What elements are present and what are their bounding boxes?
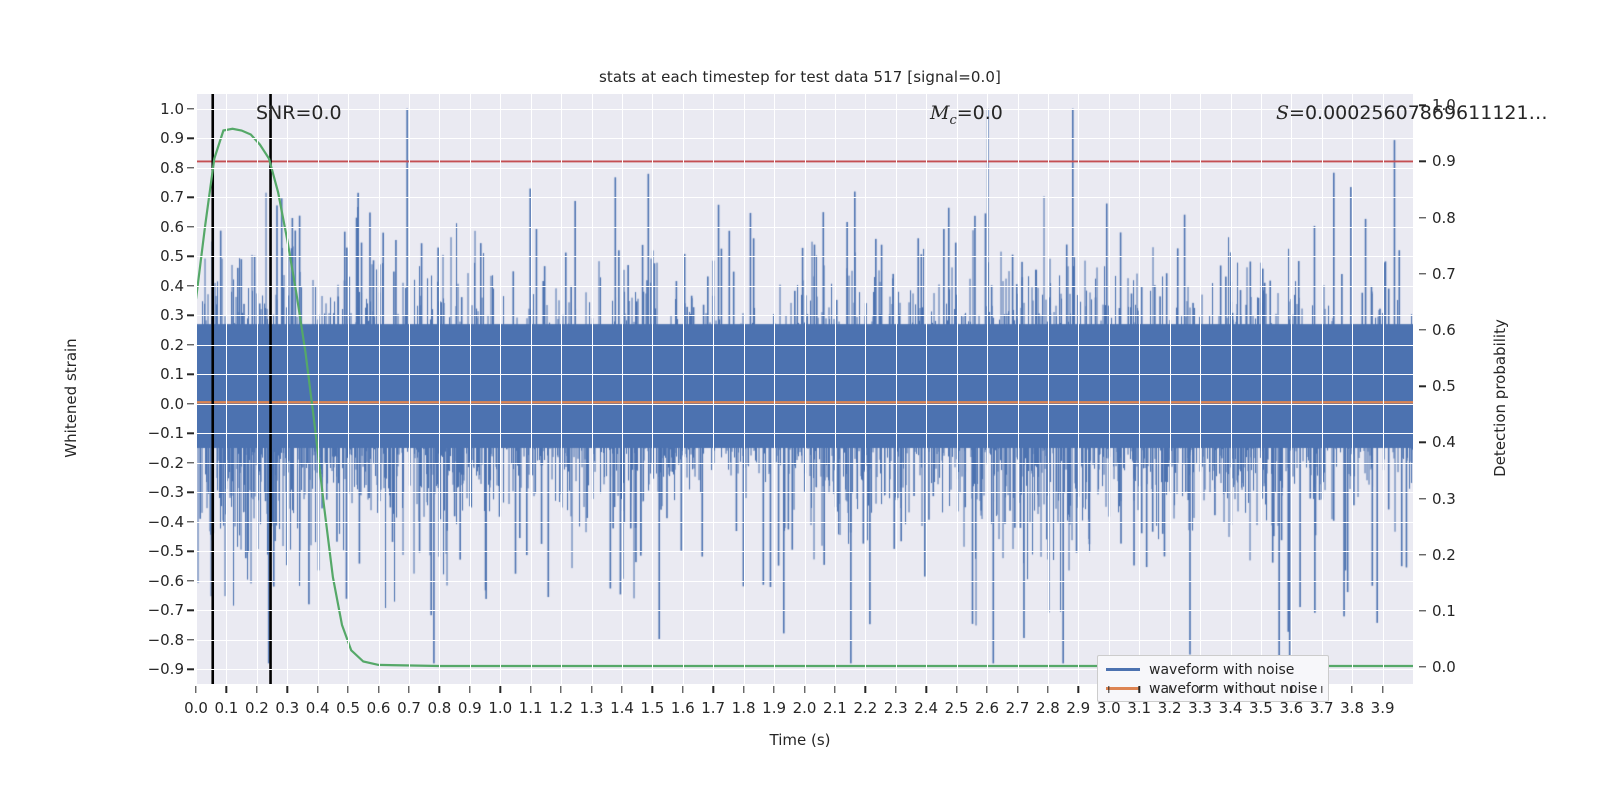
x-tick-mark <box>1199 686 1200 693</box>
annotation-snr: SNR=0.0 <box>256 102 342 124</box>
gridline-vertical <box>1383 94 1384 684</box>
gridline-vertical <box>1139 94 1140 684</box>
x-tick-mark <box>591 686 592 693</box>
y-axis-right-label: Detection probability <box>1491 268 1509 528</box>
x-tick-mark <box>469 686 470 693</box>
gridline-vertical <box>1352 94 1353 684</box>
y-tick-left-label: −0.6 <box>136 572 184 590</box>
gridline-vertical <box>683 94 684 684</box>
gridline-vertical <box>713 94 714 684</box>
gridline-vertical <box>987 94 988 684</box>
y-tick-right-label: 0.8 <box>1432 209 1482 227</box>
x-tick-mark <box>621 686 622 693</box>
gridline-vertical <box>805 94 806 684</box>
x-tick-mark <box>865 686 866 693</box>
gridline-vertical <box>957 94 958 684</box>
gridline-vertical <box>379 94 380 684</box>
x-tick-label: 3.9 <box>1361 699 1405 717</box>
gridline-vertical <box>652 94 653 684</box>
gridline-vertical <box>1200 94 1201 684</box>
y-tick-left-mark <box>187 492 194 493</box>
y-tick-right-mark <box>1419 554 1426 555</box>
x-tick-mark <box>560 686 561 693</box>
y-tick-right-mark <box>1419 385 1426 386</box>
x-axis-label: Time (s) <box>0 731 1600 749</box>
gridline-vertical <box>531 94 532 684</box>
y-tick-right-mark <box>1419 442 1426 443</box>
x-tick-mark <box>500 686 501 693</box>
x-tick-mark <box>682 686 683 693</box>
x-tick-mark <box>1108 686 1109 693</box>
x-tick-mark <box>804 686 805 693</box>
legend-item-label: waveform with noise <box>1149 662 1294 678</box>
x-tick-mark <box>530 686 531 693</box>
gridline-vertical <box>1048 94 1049 684</box>
y-tick-left-mark <box>187 138 194 139</box>
y-tick-right-label: 0.7 <box>1432 265 1482 283</box>
gridline-vertical <box>318 94 319 684</box>
x-tick-mark <box>956 686 957 693</box>
annotation-mc-value: =0.0 <box>957 102 1003 124</box>
gridline-vertical <box>1170 94 1171 684</box>
x-tick-mark <box>1169 686 1170 693</box>
y-tick-left-mark <box>187 344 194 345</box>
y-tick-right-mark <box>1419 217 1426 218</box>
y-tick-left-label: −0.1 <box>136 424 184 442</box>
annotation-mc-symbol: M <box>930 102 949 124</box>
y-tick-left-label: 0.1 <box>136 365 184 383</box>
y-tick-right-mark <box>1419 498 1426 499</box>
gridline-vertical <box>196 94 197 684</box>
x-tick-mark <box>712 686 713 693</box>
gridline-vertical <box>622 94 623 684</box>
annotation-mc-subscript: c <box>949 113 956 128</box>
y-tick-left-label: 0.9 <box>136 129 184 147</box>
y-tick-left-mark <box>187 462 194 463</box>
gridline-vertical <box>896 94 897 684</box>
gridline-vertical <box>226 94 227 684</box>
legend-item[interactable]: waveform with noise <box>1106 660 1320 679</box>
y-tick-left-mark <box>187 197 194 198</box>
y-tick-left-label: 0.6 <box>136 218 184 236</box>
x-tick-mark <box>317 686 318 693</box>
gridline-vertical <box>926 94 927 684</box>
annotation-s-symbol: S <box>1276 102 1289 124</box>
x-tick-mark <box>1138 686 1139 693</box>
y-tick-left-label: −0.8 <box>136 631 184 649</box>
x-tick-mark <box>1260 686 1261 693</box>
y-tick-right-mark <box>1419 273 1426 274</box>
y-tick-left-mark <box>187 610 194 611</box>
gridline-vertical <box>287 94 288 684</box>
gridline-vertical <box>561 94 562 684</box>
x-tick-mark <box>1382 686 1383 693</box>
gridline-vertical <box>592 94 593 684</box>
gridline-vertical <box>409 94 410 684</box>
x-tick-mark <box>652 686 653 693</box>
gridline-vertical <box>470 94 471 684</box>
x-tick-mark <box>743 686 744 693</box>
y-tick-left-mark <box>187 580 194 581</box>
y-tick-right-label: 0.6 <box>1432 321 1482 339</box>
y-tick-left-mark <box>187 403 194 404</box>
gridline-vertical <box>865 94 866 684</box>
y-tick-right-label: 1.0 <box>1432 96 1482 114</box>
y-tick-right-mark <box>1419 666 1426 667</box>
x-tick-mark <box>1047 686 1048 693</box>
gridline-vertical <box>1322 94 1323 684</box>
y-tick-right-label: 0.9 <box>1432 152 1482 170</box>
y-tick-left-mark <box>187 669 194 670</box>
x-tick-mark <box>1291 686 1292 693</box>
y-tick-left-mark <box>187 433 194 434</box>
legend: waveform with noisewaveform without nois… <box>1097 655 1329 702</box>
y-tick-left-label: −0.7 <box>136 601 184 619</box>
y-tick-left-label: 0.7 <box>136 188 184 206</box>
gridline-vertical <box>257 94 258 684</box>
legend-color-swatch <box>1106 668 1140 670</box>
x-tick-mark <box>1351 686 1352 693</box>
x-tick-mark <box>347 686 348 693</box>
y-tick-left-label: −0.2 <box>136 454 184 472</box>
y-tick-left-label: 0.5 <box>136 247 184 265</box>
y-tick-left-mark <box>187 226 194 227</box>
x-tick-mark <box>256 686 257 693</box>
annotation-chirp-mass: Mc=0.0 <box>930 102 1003 124</box>
plot-area <box>196 94 1413 684</box>
x-tick-mark <box>1078 686 1079 693</box>
y-tick-left-label: 0.3 <box>136 306 184 324</box>
y-tick-left-label: 0.4 <box>136 277 184 295</box>
y-tick-left-label: −0.9 <box>136 660 184 678</box>
y-tick-left-label: −0.5 <box>136 542 184 560</box>
matplotlib-figure: stats at each timestep for test data 517… <box>0 0 1600 800</box>
y-tick-left-label: 0.2 <box>136 336 184 354</box>
gridline-vertical <box>1291 94 1292 684</box>
annotation-statistic: S=0.00025607869611121… <box>1276 102 1548 124</box>
y-tick-right-label: 0.4 <box>1432 433 1482 451</box>
y-tick-left-mark <box>187 521 194 522</box>
x-tick-mark <box>226 686 227 693</box>
y-tick-right-mark <box>1419 104 1426 105</box>
y-tick-right-label: 0.5 <box>1432 377 1482 395</box>
gridline-vertical <box>1231 94 1232 684</box>
y-tick-left-label: −0.4 <box>136 513 184 531</box>
y-tick-left-mark <box>187 374 194 375</box>
y-tick-right-mark <box>1419 610 1426 611</box>
x-tick-mark <box>925 686 926 693</box>
y-tick-left-mark <box>187 285 194 286</box>
x-tick-mark <box>1017 686 1018 693</box>
gridline-vertical <box>744 94 745 684</box>
gridline-vertical <box>1109 94 1110 684</box>
legend-color-swatch <box>1106 687 1140 689</box>
x-tick-mark <box>195 686 196 693</box>
gridline-vertical <box>835 94 836 684</box>
gridline-vertical <box>1261 94 1262 684</box>
x-tick-mark <box>773 686 774 693</box>
y-tick-left-mark <box>187 315 194 316</box>
y-tick-left-mark <box>187 639 194 640</box>
x-tick-mark <box>895 686 896 693</box>
y-tick-right-label: 0.3 <box>1432 490 1482 508</box>
gridline-vertical <box>500 94 501 684</box>
x-tick-mark <box>1321 686 1322 693</box>
y-tick-left-mark <box>187 108 194 109</box>
x-tick-mark <box>986 686 987 693</box>
y-tick-left-mark <box>187 256 194 257</box>
y-tick-right-label: 0.1 <box>1432 602 1482 620</box>
y-tick-right-mark <box>1419 329 1426 330</box>
y-tick-left-label: 1.0 <box>136 100 184 118</box>
x-tick-mark <box>408 686 409 693</box>
gridline-vertical <box>439 94 440 684</box>
gridline-vertical <box>1078 94 1079 684</box>
y-axis-left-label: Whitened strain <box>62 268 80 528</box>
x-tick-mark <box>439 686 440 693</box>
y-tick-right-label: 0.0 <box>1432 658 1482 676</box>
y-tick-left-mark <box>187 551 194 552</box>
y-tick-left-label: −0.3 <box>136 483 184 501</box>
y-tick-left-mark <box>187 167 194 168</box>
y-tick-right-label: 0.2 <box>1432 546 1482 564</box>
gridline-vertical <box>1018 94 1019 684</box>
y-tick-left-label: 0.0 <box>136 395 184 413</box>
page-title: stats at each timestep for test data 517… <box>0 68 1600 86</box>
y-tick-left-label: 0.8 <box>136 159 184 177</box>
gridline-vertical <box>774 94 775 684</box>
gridline-vertical <box>348 94 349 684</box>
x-tick-mark <box>1230 686 1231 693</box>
x-tick-mark <box>378 686 379 693</box>
y-tick-right-mark <box>1419 161 1426 162</box>
x-tick-mark <box>834 686 835 693</box>
x-tick-mark <box>287 686 288 693</box>
legend-item-label: waveform without noise <box>1149 681 1317 697</box>
